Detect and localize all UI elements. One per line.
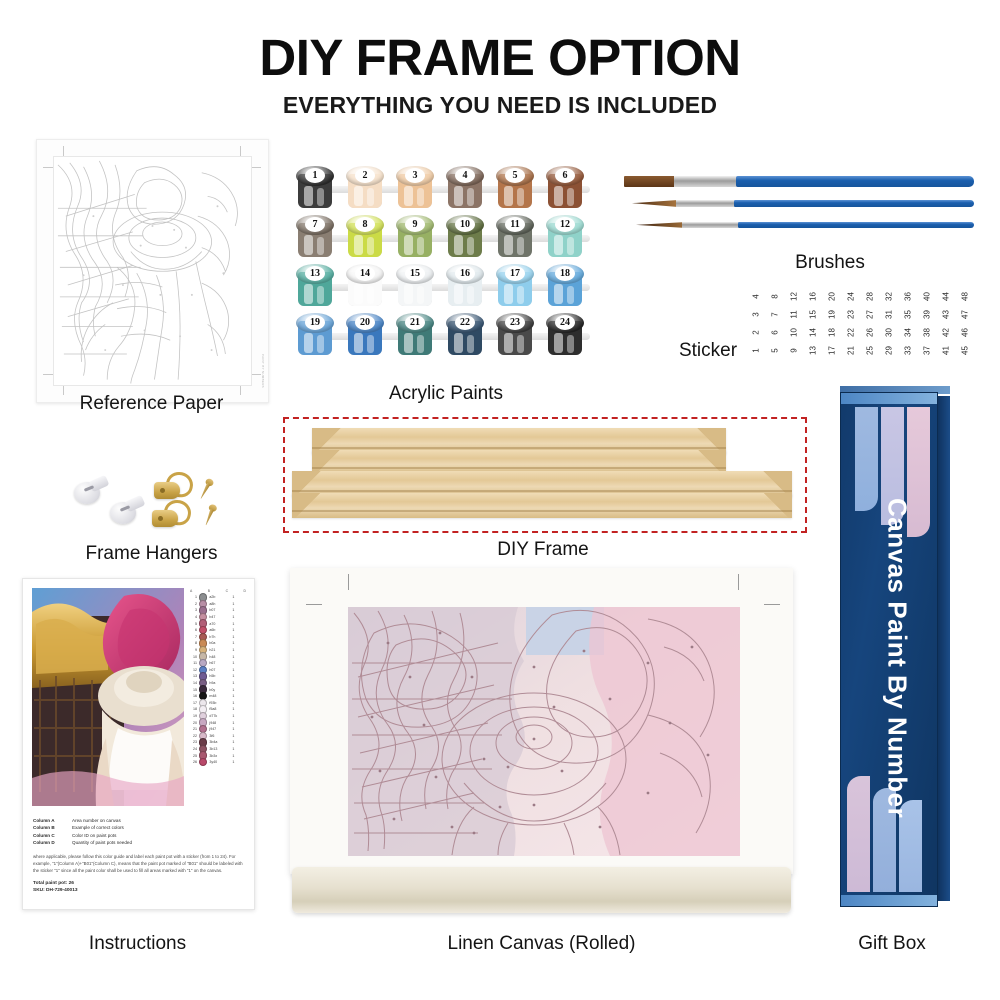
sticker-number: 33 <box>904 343 913 359</box>
paint-pot-number: 23 <box>505 315 525 330</box>
sticker-number: 29 <box>885 343 894 359</box>
legend-area-number: 4 <box>189 615 197 619</box>
paint-pot-13: 13 <box>296 264 334 308</box>
legend-quantity: 1 <box>230 661 236 665</box>
legend-quantity: 1 <box>230 740 236 744</box>
screw-1 <box>197 477 214 500</box>
legend-header-cell: A <box>190 589 192 593</box>
legend-color-id: j948 <box>209 721 228 725</box>
box-panel-1 <box>855 407 878 511</box>
legend-area-number: 26 <box>189 760 197 764</box>
linen-canvas-label: Linen Canvas (Rolled) <box>290 933 793 955</box>
paint-pot-number: 12 <box>555 217 575 232</box>
gift-box-title: Canvas Paint By Number <box>849 513 945 803</box>
sticker-number: 43 <box>942 307 951 323</box>
legend-color-id: a70 <box>209 622 228 626</box>
legend-area-number: 6 <box>189 628 197 632</box>
page-title: DIY FRAME OPTION <box>0 28 1000 87</box>
legend-row: 3b071 <box>189 607 247 614</box>
legend-area-number: 24 <box>189 747 197 751</box>
canvas-line-art <box>348 607 740 856</box>
paint-pot-number: 6 <box>555 168 575 183</box>
sticker-sheet-image: 1234567891011121314151617181920212223242… <box>746 288 974 364</box>
legend-color-id: b7h <box>209 635 228 639</box>
legend-area-number: 21 <box>189 727 197 731</box>
paint-pot-22: 22 <box>446 313 484 357</box>
frame-hangers-image <box>70 472 235 534</box>
legend-row: 233b4a1 <box>189 739 247 746</box>
sticker-column: 9101112 <box>786 288 803 364</box>
legend-row: 243b131 <box>189 746 247 753</box>
sticker-column: 45464748 <box>957 288 974 364</box>
legend-area-number: 12 <box>189 668 197 672</box>
legend-area-number: 14 <box>189 681 197 685</box>
legend-quantity: 1 <box>230 701 236 705</box>
reference-paper-image: PAINT BY NUMBERS <box>36 139 269 403</box>
acrylic-paints-image: 123456789101112131415161718192021222324 <box>296 166 596 366</box>
legend-quantity: 1 <box>230 635 236 639</box>
gift-box-title-text: Canvas Paint By Number <box>882 498 913 818</box>
sticker-number: 20 <box>828 289 837 305</box>
instructions-column-desc: Example of correct colors <box>72 824 124 831</box>
sticker-number: 12 <box>790 289 799 305</box>
legend-area-number: 5 <box>189 622 197 626</box>
sticker-number: 32 <box>885 289 894 305</box>
instructions-column-key: Column A <box>33 817 67 824</box>
paint-pot-number: 18 <box>555 266 575 281</box>
legend-area-number: 25 <box>189 754 197 758</box>
legend-row: 11h671 <box>189 660 247 667</box>
white-hanger-2 <box>110 498 144 524</box>
instructions-column-def: Column AArea number on canvas <box>33 817 245 824</box>
legend-row: 13h5b1 <box>189 673 247 680</box>
sticker-number: 46 <box>961 325 970 341</box>
sticker-number: 19 <box>828 307 837 323</box>
legend-row: 4b471 <box>189 614 247 621</box>
sticker-number: 24 <box>847 289 856 305</box>
legend-quantity: 1 <box>230 641 236 645</box>
sticker-number: 39 <box>923 307 932 323</box>
sticker-number: 45 <box>961 343 970 359</box>
legend-quantity: 1 <box>230 602 236 606</box>
diy-frame-label: DIY Frame <box>283 539 803 561</box>
legend-quantity: 1 <box>230 688 236 692</box>
sticker-number: 38 <box>923 325 932 341</box>
reference-paper-label: Reference Paper <box>36 393 267 415</box>
paint-pot-21: 21 <box>396 313 434 357</box>
paint-pot-number: 3 <box>405 168 425 183</box>
legend-quantity: 1 <box>230 674 236 678</box>
legend-row: 20j9481 <box>189 719 247 726</box>
sticker-number: 3 <box>752 307 761 323</box>
legend-color-id: b07 <box>209 608 228 612</box>
sticker-number: 41 <box>942 343 951 359</box>
sticker-number: 8 <box>771 289 780 305</box>
paint-pot-3: 3 <box>396 166 434 210</box>
gift-box-image: Canvas Paint By Number <box>832 386 952 911</box>
paint-pot-row: 123456 <box>296 166 596 214</box>
legend-quantity: 1 <box>230 721 236 725</box>
paint-pot-11: 11 <box>496 215 534 259</box>
legend-color-id: h67 <box>209 661 228 665</box>
paint-pot-number: 10 <box>455 217 475 232</box>
legend-area-number: 10 <box>189 655 197 659</box>
legend-color-id: h5b <box>209 674 228 678</box>
sticker-number: 9 <box>790 343 799 359</box>
legend-area-number: 2 <box>189 602 197 606</box>
sticker-number: 5 <box>771 343 780 359</box>
legend-header-cell: D <box>244 589 246 593</box>
paint-pot-number: 8 <box>355 217 375 232</box>
paint-pot-number: 15 <box>405 266 425 281</box>
paint-pot-2: 2 <box>346 166 384 210</box>
legend-color-id: b0a <box>209 641 228 645</box>
paint-pot-16: 16 <box>446 264 484 308</box>
legend-row: 17f93b1 <box>189 700 247 707</box>
sticker-column: 33343536 <box>900 288 917 364</box>
paint-pot-17: 17 <box>496 264 534 308</box>
paint-pot-19: 19 <box>296 313 334 357</box>
legend-color-id: a6b <box>209 628 228 632</box>
legend-color-id: 3b3x <box>209 754 228 758</box>
paint-pot-10: 10 <box>446 215 484 259</box>
page-subtitle: EVERYTHING YOU NEED IS INCLUDED <box>0 92 1000 119</box>
legend-area-number: 3 <box>189 608 197 612</box>
legend-area-number: 1 <box>189 595 197 599</box>
legend-row: 18f5a81 <box>189 706 247 713</box>
sticker-column: 25262728 <box>862 288 879 364</box>
frame-hangers-label: Frame Hangers <box>36 543 267 565</box>
sticker-number: 31 <box>885 307 894 323</box>
sticker-number: 26 <box>866 325 875 341</box>
legend-color-id: h9a <box>209 681 228 685</box>
sticker-number: 7 <box>771 307 780 323</box>
sticker-number: 17 <box>828 343 837 359</box>
legend-color-id: f5a8 <box>209 707 228 711</box>
legend-color-id: d77k <box>209 714 228 718</box>
sticker-number: 28 <box>866 289 875 305</box>
instructions-column-key: Column C <box>33 832 67 839</box>
paint-pot-number: 1 <box>305 168 325 183</box>
paint-pot-6: 6 <box>546 166 584 210</box>
legend-header-cell: C <box>226 589 228 593</box>
gold-dring-hanger-1 <box>154 472 188 502</box>
legend-area-number: 11 <box>189 661 197 665</box>
legend-row: 253b3x1 <box>189 752 247 759</box>
sticker-number: 36 <box>904 289 913 305</box>
instructions-column-def: Column CColor ID on paint pots <box>33 832 245 839</box>
legend-quantity: 1 <box>230 747 236 751</box>
legend-area-number: 7 <box>189 635 197 639</box>
legend-color-id: 3b13 <box>209 747 228 751</box>
sticker-number: 40 <box>923 289 932 305</box>
paint-pot-number: 13 <box>305 266 325 281</box>
legend-row: 16m481 <box>189 693 247 700</box>
paint-pot-number: 19 <box>305 315 325 330</box>
reference-line-art <box>53 156 252 386</box>
instructions-label: Instructions <box>22 933 253 955</box>
instructions-column-key: Column B <box>33 824 67 831</box>
legend-quantity: 1 <box>230 668 236 672</box>
legend-quantity: 1 <box>230 681 236 685</box>
acrylic-paints-label: Acrylic Paints <box>296 383 596 405</box>
reference-paper-sidecode: PAINT BY NUMBERS <box>261 354 265 388</box>
sticker-column: 5678 <box>767 288 784 364</box>
legend-area-number: 9 <box>189 648 197 652</box>
paint-pot-number: 9 <box>405 217 425 232</box>
sticker-number: 4 <box>752 289 761 305</box>
legend-quantity: 1 <box>230 655 236 659</box>
legend-row: 223f61 <box>189 732 247 739</box>
sticker-number: 21 <box>847 343 856 359</box>
sticker-number: 44 <box>942 289 951 305</box>
legend-quantity: 1 <box>230 707 236 711</box>
sticker-number: 35 <box>904 307 913 323</box>
sticker-number: 30 <box>885 325 894 341</box>
color-legend-table: ABCD1a2b12a8h13b0714b4715a7016a6b17b7h18… <box>189 589 247 765</box>
sticker-number: 15 <box>809 307 818 323</box>
sticker-number: 18 <box>828 325 837 341</box>
instructions-artwork-preview <box>32 588 184 806</box>
sku-line: SKU: DH-729-40013 <box>33 888 245 893</box>
paint-pot-number: 4 <box>455 168 475 183</box>
sticker-column: 21222324 <box>843 288 860 364</box>
paint-pot-number: 24 <box>555 315 575 330</box>
paint-pot-24: 24 <box>546 313 584 357</box>
sticker-number: 11 <box>790 307 799 323</box>
legend-area-number: 18 <box>189 707 197 711</box>
instructions-column-desc: Area number on canvas <box>72 817 121 824</box>
sticker-column: 13141516 <box>805 288 822 364</box>
legend-color-id: f93b <box>209 701 228 705</box>
frame-bar-bottom-2 <box>292 493 792 518</box>
white-hanger-1 <box>74 478 108 504</box>
paint-pot-row: 131415161718 <box>296 264 596 312</box>
legend-color-id: b0y <box>209 688 228 692</box>
paint-pot-8: 8 <box>346 215 384 259</box>
legend-quantity: 1 <box>230 760 236 764</box>
legend-quantity: 1 <box>230 734 236 738</box>
sticker-number: 42 <box>942 325 951 341</box>
screw-2 <box>202 503 218 526</box>
sticker-label: Sticker <box>648 340 768 362</box>
legend-quantity: 1 <box>230 628 236 632</box>
sticker-number: 22 <box>847 325 856 341</box>
legend-area-number: 15 <box>189 688 197 692</box>
sticker-number: 6 <box>771 325 780 341</box>
gold-dring-hanger-2 <box>152 500 186 530</box>
instructions-column-def: Column BExample of correct colors <box>33 824 245 831</box>
legend-row: 19d77k1 <box>189 713 247 720</box>
paint-pot-5: 5 <box>496 166 534 210</box>
legend-color-id: a2b <box>209 595 228 599</box>
legend-quantity: 1 <box>230 595 236 599</box>
gift-box-label: Gift Box <box>822 933 962 955</box>
brushes-image <box>624 172 974 252</box>
legend-color-id: h48 <box>209 655 228 659</box>
legend-color-id: m48 <box>209 694 228 698</box>
paint-pot-15: 15 <box>396 264 434 308</box>
paint-pot-4: 4 <box>446 166 484 210</box>
legend-color-id: 3y40 <box>209 760 228 764</box>
sticker-number: 14 <box>809 325 818 341</box>
paint-pot-1: 1 <box>296 166 334 210</box>
brushes-label: Brushes <box>740 252 920 274</box>
paint-pot-row: 192021222324 <box>296 313 596 361</box>
instructions-sheet-image: ABCD1a2b12a8h13b0714b4715a7016a6b17b7h18… <box>22 578 255 910</box>
paint-pot-number: 21 <box>405 315 425 330</box>
paint-pot-23: 23 <box>496 313 534 357</box>
legend-color-id: j947 <box>209 727 228 731</box>
paint-pot-number: 16 <box>455 266 475 281</box>
instructions-column-key: Column D <box>33 839 67 846</box>
sticker-number: 16 <box>809 289 818 305</box>
legend-row: 14h9a1 <box>189 680 247 687</box>
legend-area-number: 13 <box>189 674 197 678</box>
sticker-number: 13 <box>809 343 818 359</box>
paint-pot-14: 14 <box>346 264 384 308</box>
brush-round-medium <box>632 200 974 207</box>
paint-pot-20: 20 <box>346 313 384 357</box>
paint-pot-number: 7 <box>305 217 325 232</box>
paint-pot-12: 12 <box>546 215 584 259</box>
paint-pot-number: 20 <box>355 315 375 330</box>
legend-row: 15b0y1 <box>189 686 247 693</box>
instructions-column-desc: Quantity of paint pots needed <box>72 839 132 846</box>
legend-row: 1a2b1 <box>189 594 247 601</box>
legend-quantity: 1 <box>230 648 236 652</box>
sticker-number: 2 <box>752 325 761 341</box>
instructions-column-def: Column DQuantity of paint pots needed <box>33 839 245 846</box>
instructions-text-block: Column AArea number on canvasColumn BExa… <box>33 817 245 893</box>
brush-round-fine <box>636 222 974 228</box>
legend-area-number: 22 <box>189 734 197 738</box>
paint-pot-number: 22 <box>455 315 475 330</box>
legend-row: 12h071 <box>189 667 247 674</box>
paint-pot-number: 17 <box>505 266 525 281</box>
legend-area-number: 17 <box>189 701 197 705</box>
legend-color-id: h07 <box>209 668 228 672</box>
instructions-column-desc: Color ID on paint pots <box>72 832 116 839</box>
sticker-column: 29303132 <box>881 288 898 364</box>
legend-row: 5a701 <box>189 620 247 627</box>
legend-quantity: 1 <box>230 714 236 718</box>
legend-quantity: 1 <box>230 694 236 698</box>
legend-color-swatch <box>199 758 207 766</box>
legend-quantity: 1 <box>230 622 236 626</box>
paint-pot-number: 5 <box>505 168 525 183</box>
paint-pot-7: 7 <box>296 215 334 259</box>
paint-pot-9: 9 <box>396 215 434 259</box>
legend-color-id: a8h <box>209 602 228 606</box>
linen-canvas-image <box>290 568 793 913</box>
sticker-column: 41424344 <box>938 288 955 364</box>
sticker-number: 48 <box>961 289 970 305</box>
sticker-number: 25 <box>866 343 875 359</box>
legend-quantity: 1 <box>230 608 236 612</box>
brush-flat <box>624 176 974 187</box>
legend-area-number: 16 <box>189 694 197 698</box>
legend-quantity: 1 <box>230 727 236 731</box>
sticker-number: 37 <box>923 343 932 359</box>
legend-row: 21j9471 <box>189 726 247 733</box>
legend-color-id: b47 <box>209 615 228 619</box>
paint-pot-number: 11 <box>505 217 525 232</box>
legend-header-cell: B <box>208 589 210 593</box>
legend-row: 263y401 <box>189 759 247 766</box>
legend-row: 8b0a1 <box>189 640 247 647</box>
sticker-column: 17181920 <box>824 288 841 364</box>
legend-area-number: 23 <box>189 740 197 744</box>
sticker-column: 37383940 <box>919 288 936 364</box>
diy-frame-highlight-box <box>283 417 807 533</box>
legend-color-id: 3b4a <box>209 740 228 744</box>
legend-row: 7b7h1 <box>189 634 247 641</box>
legend-area-number: 20 <box>189 721 197 725</box>
legend-quantity: 1 <box>230 615 236 619</box>
legend-quantity: 1 <box>230 754 236 758</box>
paint-pot-row: 789101112 <box>296 215 596 263</box>
legend-row: 6a6b1 <box>189 627 247 634</box>
sticker-number: 23 <box>847 307 856 323</box>
legend-row: 9h211 <box>189 647 247 654</box>
legend-color-id: 3f6 <box>209 734 228 738</box>
instructions-note: where applicable, please follow this col… <box>33 853 245 874</box>
sticker-number: 10 <box>790 325 799 341</box>
legend-row: 10h481 <box>189 653 247 660</box>
legend-area-number: 19 <box>189 714 197 718</box>
sticker-number: 47 <box>961 307 970 323</box>
sticker-number: 27 <box>866 307 875 323</box>
canvas-roll <box>292 867 791 913</box>
legend-area-number: 8 <box>189 641 197 645</box>
legend-row: 2a8h1 <box>189 601 247 608</box>
total-paint-pot: Total paint pot: 26 <box>33 881 245 886</box>
sticker-number: 34 <box>904 325 913 341</box>
legend-color-id: h21 <box>209 648 228 652</box>
paint-pot-18: 18 <box>546 264 584 308</box>
paint-pot-number: 14 <box>355 266 375 281</box>
paint-pot-number: 2 <box>355 168 375 183</box>
